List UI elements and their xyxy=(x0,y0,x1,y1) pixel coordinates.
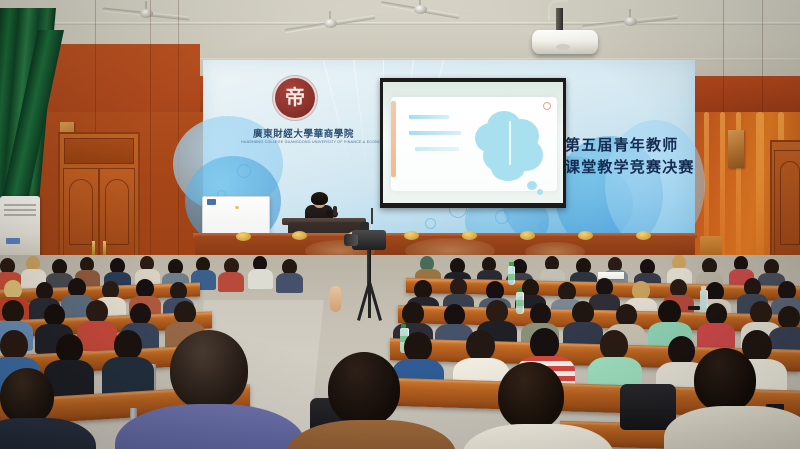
presenter-hair xyxy=(311,192,328,205)
whiteboard-clip xyxy=(207,199,216,205)
side-door[interactable] xyxy=(770,140,800,260)
screen-surface xyxy=(383,82,563,203)
table-flower xyxy=(578,231,593,240)
rear-double-door[interactable] xyxy=(58,132,140,260)
logo-name-chinese: 廣東財經大學華商學院 xyxy=(253,126,337,140)
projector-lens xyxy=(556,44,570,50)
event-banner-text: 第五届青年教师 课堂教学竞赛决赛 xyxy=(565,134,705,178)
camera-lens xyxy=(344,234,358,246)
institution-logo: 帝 廣東財經大學華商學院 HUASHANG COLLEGE GUANGDONG … xyxy=(253,78,337,170)
air-conditioner[interactable] xyxy=(0,196,40,260)
video-camera-rig xyxy=(344,222,398,318)
microphone xyxy=(333,206,337,216)
ac-brand-label xyxy=(6,238,20,244)
table-flower xyxy=(236,232,251,241)
wall-decoration xyxy=(728,130,744,168)
projection-screen xyxy=(380,78,566,208)
table-flower xyxy=(292,231,307,240)
presentation-slide xyxy=(391,97,557,191)
slide-corner-mark xyxy=(543,102,551,110)
logo-name-english: HUASHANG COLLEGE GUANGDONG UNIVERSITY OF… xyxy=(241,140,349,144)
slide-cloud-graphic xyxy=(491,155,525,181)
table-flower xyxy=(404,231,419,240)
tripod-post xyxy=(367,250,371,284)
slide-accent-bar xyxy=(391,101,396,177)
table-flower xyxy=(462,231,477,240)
table-flower xyxy=(520,231,535,240)
slide-text-line xyxy=(409,115,449,119)
door-transom xyxy=(64,138,134,164)
door-leaf-left[interactable] xyxy=(63,168,99,256)
banner-line-1: 第五届青年教师 xyxy=(565,134,705,156)
slide-cloud-tail xyxy=(537,189,543,195)
table-flower xyxy=(636,231,651,240)
slide-text-line xyxy=(415,147,459,151)
whiteboard-marker-dot xyxy=(235,206,239,209)
ceiling-projector xyxy=(532,30,598,54)
raised-hand xyxy=(330,286,341,312)
camera-antenna xyxy=(371,208,373,224)
projector-mount xyxy=(556,8,563,32)
slide-text-line xyxy=(409,131,461,135)
slide-cloud-divider xyxy=(509,121,511,165)
smartphone[interactable] xyxy=(688,306,700,310)
backpack xyxy=(620,384,676,430)
tripod-leg xyxy=(368,282,371,318)
banner-line-2: 课堂教学竞赛决赛 xyxy=(565,156,705,178)
lecture-hall-photo: 帝 廣東財經大學華商學院 HUASHANG COLLEGE GUANGDONG … xyxy=(0,0,800,449)
water-bottle xyxy=(508,266,515,285)
ceiling-beam xyxy=(0,22,800,25)
logo-emblem-glyph: 帝 xyxy=(285,87,305,109)
slide-cloud-tail xyxy=(527,181,537,190)
door-leaf-right[interactable] xyxy=(99,168,135,256)
water-bottle xyxy=(516,292,524,314)
